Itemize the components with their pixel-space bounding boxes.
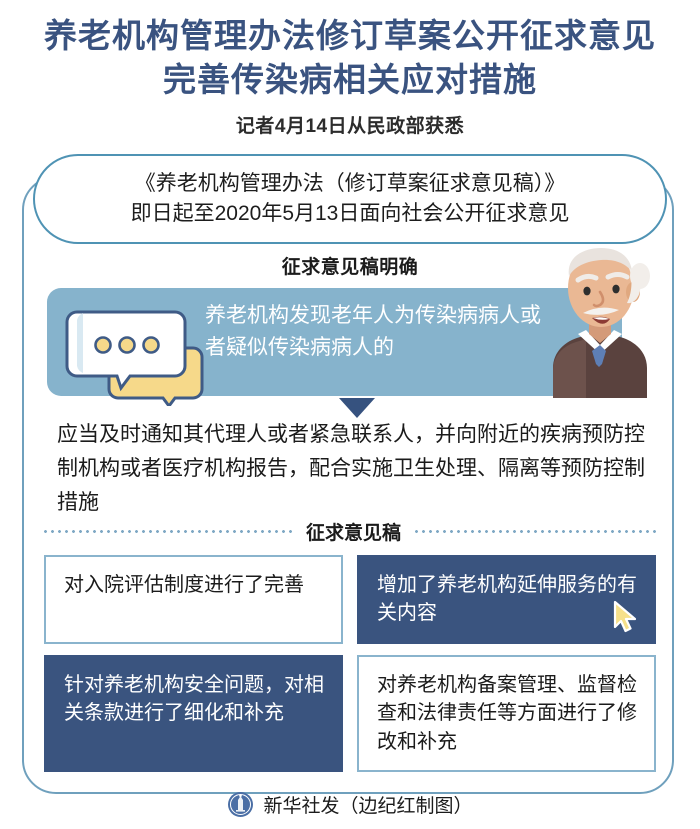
- body-paragraph: 应当及时通知其代理人或者紧急联系人，并向附近的疾病预防控制机构或者医疗机构报告，…: [57, 418, 647, 520]
- box-extended-services[interactable]: 增加了养老机构延伸服务的有关内容: [357, 555, 656, 644]
- notice-banner: 《养老机构管理办法（修订草案征求意见稿）》 即日起至2020年5月13日面向社会…: [33, 154, 667, 244]
- divider-dots-right: [413, 530, 656, 533]
- infographic-page: 养老机构管理办法修订草案公开征求意见 完善传染病相关应对措施 记者4月14日从民…: [0, 0, 700, 829]
- divider: 征求意见稿: [42, 518, 656, 544]
- page-subtitle: 记者4月14日从民政部获悉: [0, 111, 700, 138]
- notice-banner-line2: 即日起至2020年5月13日面向社会公开征求意见: [131, 199, 570, 229]
- page-title-line2: 完善传染病相关应对措施: [0, 58, 700, 102]
- box-safety-clauses[interactable]: 针对养老机构安全问题，对相关条款进行了细化和补充: [44, 655, 343, 772]
- divider-dots-left: [42, 530, 294, 533]
- box-row-1: 对入院评估制度进行了完善 增加了养老机构延伸服务的有关内容: [44, 555, 656, 644]
- box-admission-assessment[interactable]: 对入院评估制度进行了完善: [44, 555, 343, 644]
- footer: 新华社发（边纪红制图）: [0, 791, 700, 818]
- summary-boxes: 对入院评估制度进行了完善 增加了养老机构延伸服务的有关内容 针对养老机构安全问题…: [44, 555, 656, 783]
- page-title-line1: 养老机构管理办法修订草案公开征求意见: [0, 14, 700, 58]
- box-filing-supervision[interactable]: 对养老机构备案管理、监督检查和法律责任等方面进行了修改和补充: [357, 655, 656, 772]
- box-row-2: 针对养老机构安全问题，对相关条款进行了细化和补充 对养老机构备案管理、监督检查和…: [44, 655, 656, 772]
- box-extended-services-label: 增加了养老机构延伸服务的有关内容: [377, 574, 637, 624]
- header: 养老机构管理办法修订草案公开征求意见 完善传染病相关应对措施 记者4月14日从民…: [0, 0, 700, 138]
- divider-label: 征求意见稿: [306, 518, 401, 545]
- footer-credit: 新华社发（边纪红制图）: [263, 791, 472, 818]
- notice-banner-line1: 《养老机构管理办法（修订草案征求意见稿）》: [135, 169, 566, 199]
- down-arrow-icon: [339, 398, 375, 418]
- quote-text: 养老机构发现老年人为传染病病人或者疑似传染病病人的: [205, 300, 545, 364]
- xinhua-logo-icon: [227, 791, 254, 818]
- elderly-man-illustration: [545, 246, 657, 398]
- mouse-cursor-icon: [611, 600, 641, 634]
- speech-bubbles-icon: [63, 300, 213, 406]
